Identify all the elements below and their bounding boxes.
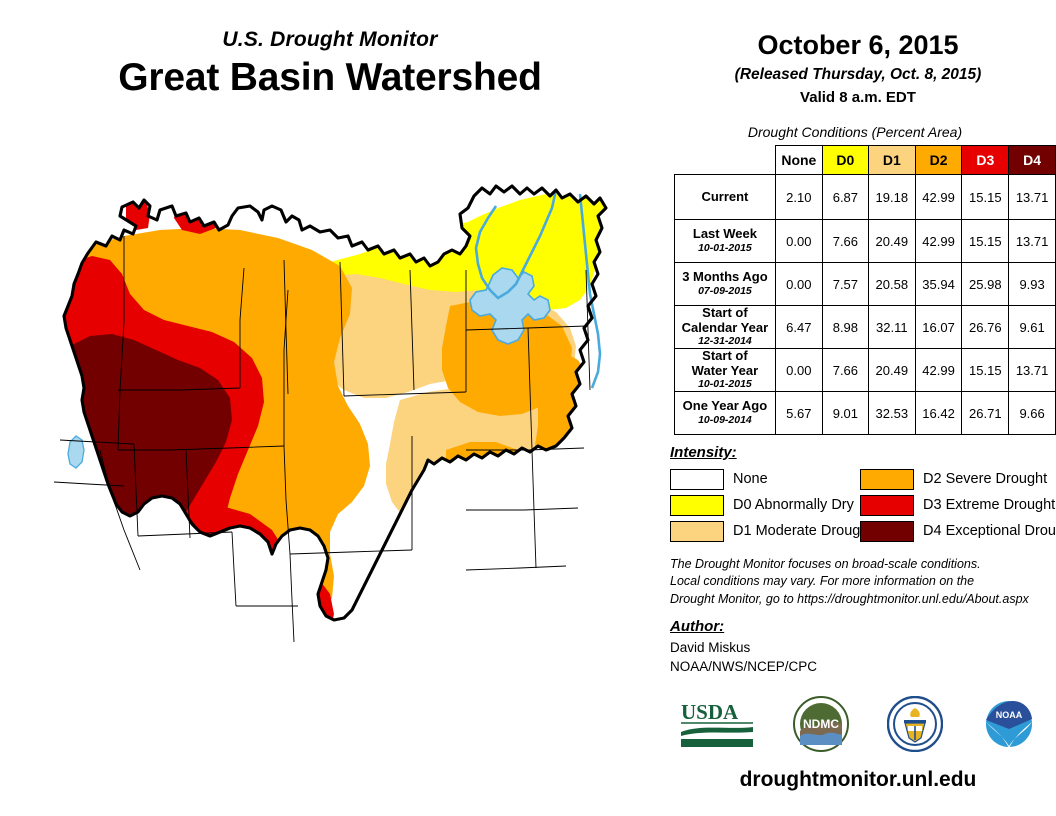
site-url[interactable]: droughtmonitor.unl.edu xyxy=(660,768,1056,792)
table-cell-d3: 26.76 xyxy=(962,306,1009,349)
usdc-seal xyxy=(887,696,943,752)
legend-label: None xyxy=(733,471,768,487)
legend-item: D2 Severe Drought xyxy=(860,469,1050,490)
table-cell-none: 0.00 xyxy=(775,220,822,263)
legend-label: D0 Abnormally Dry xyxy=(733,497,854,513)
legend-swatch xyxy=(860,521,914,542)
row-label-line: Current xyxy=(675,190,775,205)
row-label-date: 07-09-2015 xyxy=(675,286,775,298)
table-col-header-d0: D0 xyxy=(822,146,868,175)
table-cell-d2: 42.99 xyxy=(915,220,962,263)
table-cell-d4: 13.71 xyxy=(1009,220,1056,263)
legend-label: D2 Severe Drought xyxy=(923,471,1047,487)
disclaimer-text: The Drought Monitor focuses on broad-sca… xyxy=(670,556,1029,608)
table-cell-d4: 13.71 xyxy=(1009,349,1056,392)
table-row-label: Current xyxy=(675,175,776,220)
table-row-label: Start ofCalendar Year12-31-2014 xyxy=(675,306,776,349)
table-header-row: NoneD0D1D2D3D4 xyxy=(675,146,1056,175)
table-cell-d1: 32.11 xyxy=(868,306,915,349)
map-title-block: U.S. Drought Monitor Great Basin Watersh… xyxy=(0,28,660,100)
table-row: Start ofWater Year10-01-20150.007.6620.4… xyxy=(675,349,1056,392)
table-col-header-d3: D3 xyxy=(962,146,1009,175)
row-label-line: Water Year xyxy=(675,364,775,379)
table-cell-d0: 7.66 xyxy=(822,220,868,263)
legend-label: D4 Exceptional Drought xyxy=(923,523,1056,539)
row-label-line: Calendar Year xyxy=(675,321,775,336)
table-cell-d1: 32.53 xyxy=(868,392,915,435)
author-name: David Miskus xyxy=(670,638,817,657)
table-cell-d3: 25.98 xyxy=(962,263,1009,306)
row-label-line: 3 Months Ago xyxy=(675,270,775,285)
legend-item: D1 Moderate Drought xyxy=(670,521,860,542)
usda-logo: USDA xyxy=(679,699,755,749)
table-row: Last Week10-01-20150.007.6620.4942.9915.… xyxy=(675,220,1056,263)
drought-monitor-page: U.S. Drought Monitor Great Basin Watersh… xyxy=(0,0,1056,816)
row-label-date: 10-09-2014 xyxy=(675,415,775,427)
legend-item: D3 Extreme Drought xyxy=(860,495,1050,516)
table-cell-none: 0.00 xyxy=(775,349,822,392)
table-caption: Drought Conditions (Percent Area) xyxy=(660,124,1050,140)
table-cell-d0: 7.66 xyxy=(822,349,868,392)
valid-time: Valid 8 a.m. EDT xyxy=(660,89,1056,106)
table-cell-d3: 26.71 xyxy=(962,392,1009,435)
row-label-date: 10-01-2015 xyxy=(675,379,775,391)
table-cell-d2: 42.99 xyxy=(915,175,962,220)
row-label-date: 10-01-2015 xyxy=(675,243,775,255)
author-block: David Miskus NOAA/NWS/NCEP/CPC xyxy=(670,638,817,676)
table-cell-d1: 20.49 xyxy=(868,220,915,263)
svg-text:NDMC: NDMC xyxy=(803,717,839,731)
table-col-header-d2: D2 xyxy=(915,146,962,175)
table-cell-d4: 9.93 xyxy=(1009,263,1056,306)
author-affiliation: NOAA/NWS/NCEP/CPC xyxy=(670,657,817,676)
table-col-header-d4: D4 xyxy=(1009,146,1056,175)
author-heading: Author: xyxy=(670,618,724,635)
legend-swatch xyxy=(860,495,914,516)
table-cell-d2: 16.07 xyxy=(915,306,962,349)
drought-map xyxy=(0,150,660,730)
row-label-line: One Year Ago xyxy=(675,399,775,414)
legend-label: D1 Moderate Drought xyxy=(733,523,872,539)
row-label-line: Start of xyxy=(675,349,775,364)
legend-item: D0 Abnormally Dry xyxy=(670,495,860,516)
table-row: Current2.106.8719.1842.9915.1513.71 xyxy=(675,175,1056,220)
table-row-label: Last Week10-01-2015 xyxy=(675,220,776,263)
table-cell-none: 0.00 xyxy=(775,263,822,306)
table-cell-d0: 8.98 xyxy=(822,306,868,349)
intensity-legend: NoneD2 Severe DroughtD0 Abnormally DryD3… xyxy=(670,466,1050,544)
ndmc-logo-svg: NDMC xyxy=(793,696,849,752)
page-title: Great Basin Watershed xyxy=(0,56,660,100)
table-row-label: Start ofWater Year10-01-2015 xyxy=(675,349,776,392)
legend-swatch xyxy=(670,521,724,542)
table-cell-d3: 15.15 xyxy=(962,349,1009,392)
intensity-heading: Intensity: xyxy=(670,444,737,461)
legend-label: D3 Extreme Drought xyxy=(923,497,1055,513)
table-cell-d4: 13.71 xyxy=(1009,175,1056,220)
table-corner-cell xyxy=(675,146,776,175)
legend-item: D4 Exceptional Drought xyxy=(860,521,1050,542)
table-cell-d2: 35.94 xyxy=(915,263,962,306)
table-cell-none: 5.67 xyxy=(775,392,822,435)
noaa-logo-svg: NOAA xyxy=(981,696,1037,752)
legend-swatch xyxy=(670,495,724,516)
ndmc-logo: NDMC xyxy=(793,696,849,752)
legend-row: D1 Moderate DroughtD4 Exceptional Drough… xyxy=(670,518,1050,544)
row-label-line: Last Week xyxy=(675,227,775,242)
table-col-header-none: None xyxy=(775,146,822,175)
table-cell-d4: 9.61 xyxy=(1009,306,1056,349)
svg-text:NOAA: NOAA xyxy=(996,710,1023,720)
usdc-seal-svg xyxy=(887,696,943,752)
table-cell-d2: 16.42 xyxy=(915,392,962,435)
table-cell-d0: 6.87 xyxy=(822,175,868,220)
table-row-label: 3 Months Ago07-09-2015 xyxy=(675,263,776,306)
agency-title: U.S. Drought Monitor xyxy=(0,28,660,52)
table-cell-d1: 19.18 xyxy=(868,175,915,220)
table-cell-d0: 7.57 xyxy=(822,263,868,306)
table-cell-d0: 9.01 xyxy=(822,392,868,435)
table-cell-none: 2.10 xyxy=(775,175,822,220)
right-panel: October 6, 2015 (Released Thursday, Oct.… xyxy=(660,0,1056,816)
drought-map-svg xyxy=(0,150,660,730)
drought-conditions-table: NoneD0D1D2D3D4Current2.106.8719.1842.991… xyxy=(674,145,1056,435)
row-label-line: Start of xyxy=(675,306,775,321)
release-date: (Released Thursday, Oct. 8, 2015) xyxy=(660,66,1056,84)
disclaimer-line-1: The Drought Monitor focuses on broad-sca… xyxy=(670,556,1029,573)
table-cell-d1: 20.49 xyxy=(868,349,915,392)
legend-item: None xyxy=(670,469,860,490)
usda-logo-svg: USDA xyxy=(679,699,755,749)
table-cell-d3: 15.15 xyxy=(962,175,1009,220)
noaa-logo: NOAA xyxy=(981,696,1037,752)
table-row: Start ofCalendar Year12-31-20146.478.983… xyxy=(675,306,1056,349)
legend-swatch xyxy=(670,469,724,490)
legend-row: D0 Abnormally DryD3 Extreme Drought xyxy=(670,492,1050,518)
logo-strip: USDA NDMC xyxy=(660,692,1056,756)
table-cell-none: 6.47 xyxy=(775,306,822,349)
disclaimer-line-3: Drought Monitor, go to https://droughtmo… xyxy=(670,591,1029,608)
table-col-header-d1: D1 xyxy=(868,146,915,175)
table-cell-d1: 20.58 xyxy=(868,263,915,306)
table-row-label: One Year Ago10-09-2014 xyxy=(675,392,776,435)
disclaimer-line-2: Local conditions may vary. For more info… xyxy=(670,573,1029,590)
row-label-date: 12-31-2014 xyxy=(675,336,775,348)
legend-swatch xyxy=(860,469,914,490)
table-row: 3 Months Ago07-09-20150.007.5720.5835.94… xyxy=(675,263,1056,306)
table-cell-d2: 42.99 xyxy=(915,349,962,392)
svg-text:USDA: USDA xyxy=(681,700,739,724)
table-cell-d4: 9.66 xyxy=(1009,392,1056,435)
legend-row: NoneD2 Severe Drought xyxy=(670,466,1050,492)
table-cell-d3: 15.15 xyxy=(962,220,1009,263)
report-date: October 6, 2015 xyxy=(660,30,1056,61)
table-row: One Year Ago10-09-20145.679.0132.5316.42… xyxy=(675,392,1056,435)
